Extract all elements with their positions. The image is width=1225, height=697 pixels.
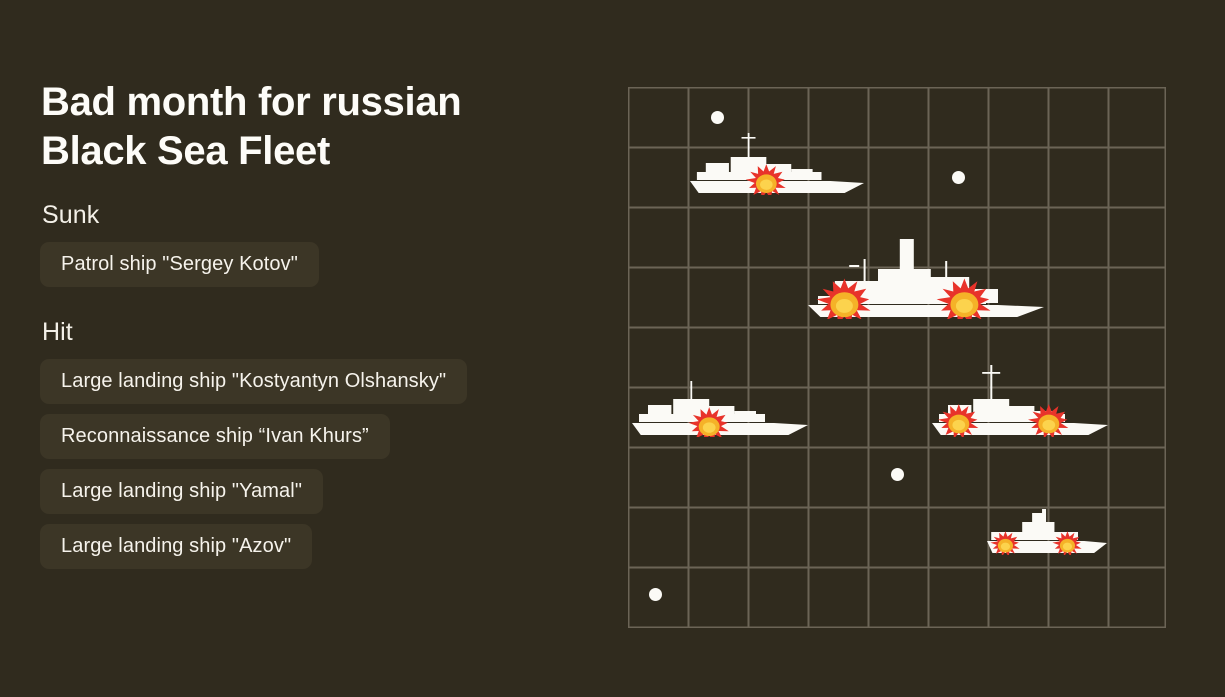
fleet-grid-panel xyxy=(628,87,1166,628)
list-item[interactable]: Patrol ship "Sergey Kotov" xyxy=(40,242,319,287)
section-sunk: Sunk Patrol ship "Sergey Kotov" xyxy=(40,200,580,287)
ship-landing-ship-left xyxy=(630,381,810,437)
impact-dot-1 xyxy=(711,111,724,124)
hit-ship-list: Large landing ship "Kostyantyn Olshansky… xyxy=(40,359,580,569)
impact-dot-3 xyxy=(891,468,904,481)
ship-landing-ship-bottom xyxy=(985,507,1109,555)
ship-large-ship-center xyxy=(806,239,1046,319)
list-item[interactable]: Large landing ship "Kostyantyn Olshansky… xyxy=(40,359,467,404)
page-title: Bad month for russian Black Sea Fleet xyxy=(41,78,580,176)
impact-dot-2 xyxy=(952,171,965,184)
ship-landing-ship-right xyxy=(930,365,1110,437)
ship-layer xyxy=(628,87,1166,628)
list-item[interactable]: Reconnaissance ship “Ivan Khurs” xyxy=(40,414,390,459)
section-heading-hit: Hit xyxy=(42,317,580,347)
list-item[interactable]: Large landing ship "Azov" xyxy=(40,524,312,569)
infographic-poster: Bad month for russian Black Sea Fleet Su… xyxy=(0,0,1225,697)
section-heading-sunk: Sunk xyxy=(42,200,580,230)
list-item[interactable]: Large landing ship "Yamal" xyxy=(40,469,323,514)
sunk-ship-list: Patrol ship "Sergey Kotov" xyxy=(40,242,580,287)
impact-dot-4 xyxy=(649,588,662,601)
section-hit: Hit Large landing ship "Kostyantyn Olsha… xyxy=(40,317,580,569)
left-panel: Bad month for russian Black Sea Fleet Su… xyxy=(40,78,580,569)
ship-patrol-ship-top xyxy=(688,133,866,195)
